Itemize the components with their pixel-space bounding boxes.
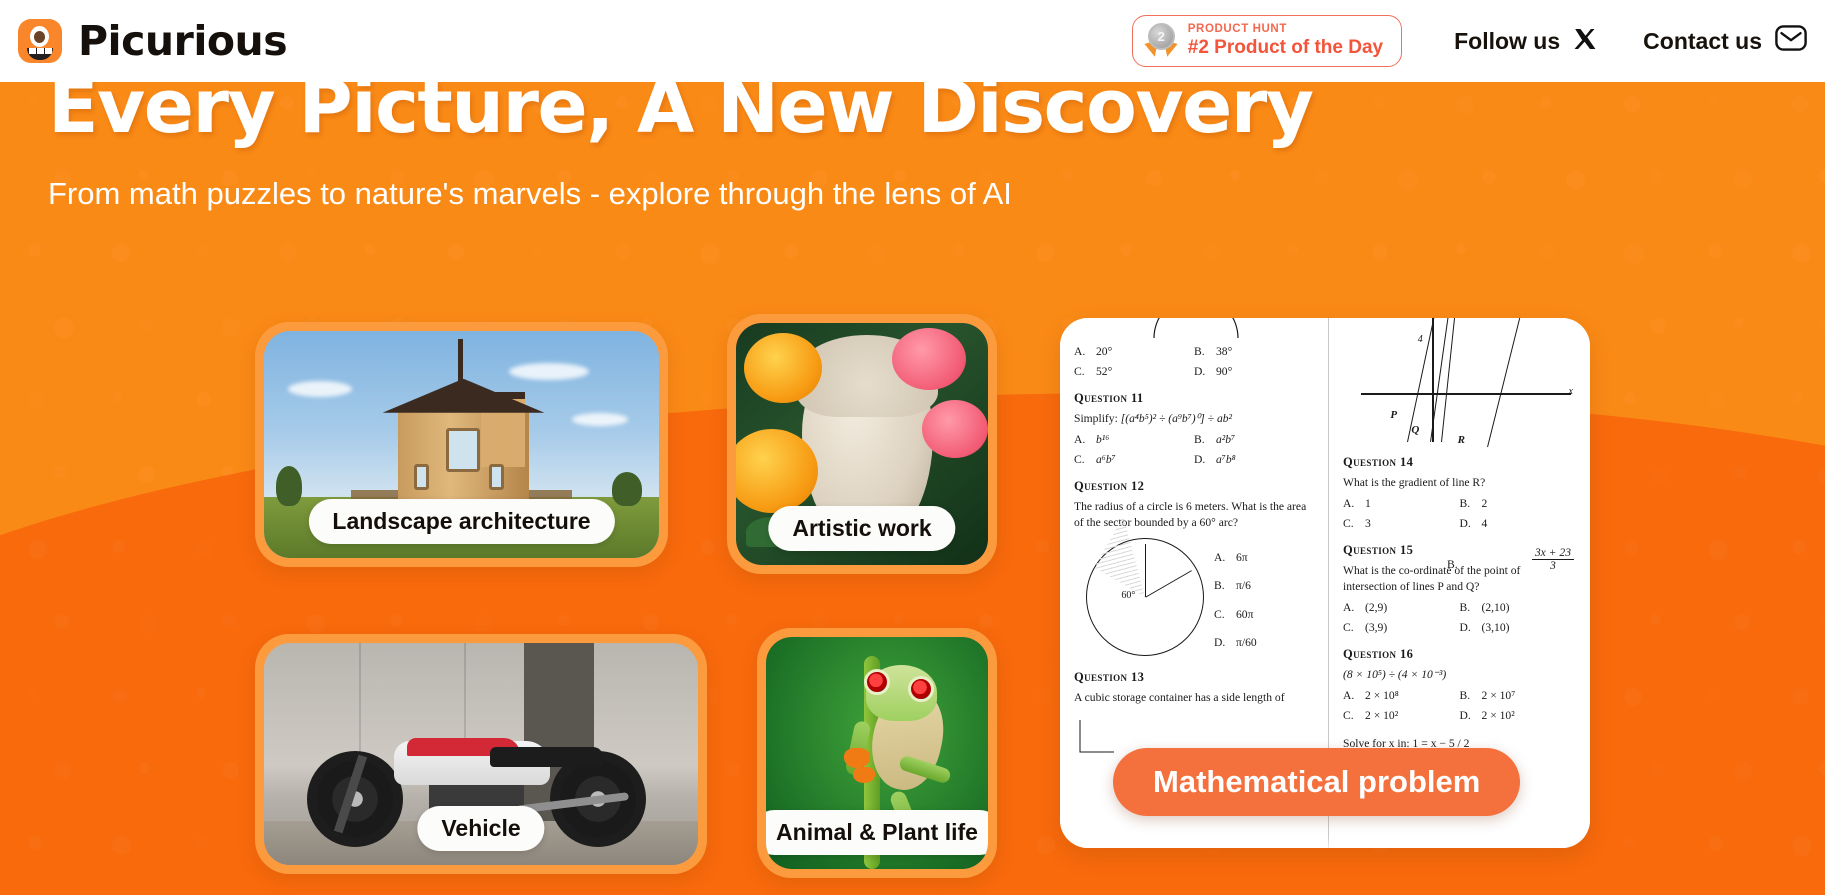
option-value: 2 × 10⁸ [1365, 689, 1399, 702]
question-13-heading: Question 13 [1074, 670, 1314, 685]
graph-label-P: P [1390, 409, 1397, 421]
question-14-heading: Question 14 [1343, 455, 1576, 470]
question-15-options: A.(2,9) B.(2,10) C.(3,9) D.(3,10) [1343, 601, 1576, 634]
option-letter: C. [1214, 601, 1227, 629]
card-label-math: Mathematical problem [1113, 748, 1520, 816]
option-value: (2,9) [1365, 601, 1387, 614]
option-value: (2,10) [1482, 601, 1510, 614]
follow-us-label: Follow us [1454, 28, 1560, 55]
follow-us-link[interactable]: Follow us [1454, 27, 1597, 55]
question-13-text: A cubic storage container has a side len… [1074, 690, 1314, 705]
question-12-options: A.6π B.π/6 C.60π D.π/60 [1214, 544, 1257, 658]
stray-option-letter: B. [1447, 558, 1458, 571]
question-14-text: What is the gradient of line R? [1343, 475, 1576, 490]
option-letter: D. [1460, 709, 1473, 722]
option-letter: C. [1343, 709, 1356, 722]
option-letter: A. [1214, 544, 1227, 572]
option-letter: D. [1460, 517, 1473, 530]
contact-us-link[interactable]: Contact us [1643, 25, 1807, 57]
category-card-artistic[interactable]: Artistic work [727, 314, 997, 574]
brand-logo-link[interactable]: Picurious [18, 17, 287, 65]
option-value: 20° [1096, 345, 1112, 358]
option-letter: D. [1194, 453, 1207, 466]
option-letter: B. [1194, 345, 1207, 358]
question-16-options: A.2 × 10⁸ B.2 × 10⁷ C.2 × 10² D.2 × 10² [1343, 689, 1576, 722]
option-value: π/60 [1236, 629, 1257, 657]
option-letter: B. [1460, 497, 1473, 510]
option-value: 2 × 10² [1482, 709, 1515, 722]
card-label-vehicle: Vehicle [417, 806, 544, 851]
product-hunt-title: #2 Product of the Day [1188, 37, 1383, 59]
sector-diagram: 60° [1086, 538, 1204, 656]
option-letter: A. [1343, 601, 1356, 614]
contact-us-label: Contact us [1643, 28, 1762, 55]
lines-graph-diagram: 4 P Q R x [1361, 318, 1571, 442]
option-letter: A. [1074, 345, 1087, 358]
option-value: 60π [1236, 601, 1253, 629]
product-hunt-badge[interactable]: 2 PRODUCT HUNT #2 Product of the Day [1132, 15, 1402, 67]
sector-angle-label: 60° [1121, 590, 1135, 601]
option-value: π/6 [1236, 572, 1251, 600]
option-value: a²b⁷ [1216, 433, 1235, 446]
brand-name: Picurious [78, 17, 287, 65]
option-value: 4 [1482, 517, 1488, 530]
option-value: 6π [1236, 544, 1248, 572]
option-letter: C. [1074, 365, 1087, 378]
option-value: 90° [1216, 365, 1232, 378]
option-letter: C. [1074, 453, 1087, 466]
category-card-animal[interactable]: Animal & Plant life [757, 628, 997, 878]
option-value: a⁶b⁷ [1096, 453, 1116, 466]
option-letter: D. [1460, 621, 1473, 634]
x-twitter-icon[interactable] [1573, 27, 1597, 55]
option-value: 1 [1365, 497, 1371, 510]
option-letter: D. [1214, 629, 1227, 657]
option-letter: A. [1343, 497, 1356, 510]
question-11-text: Simplify: [1074, 412, 1118, 425]
option-letter: B. [1460, 689, 1473, 702]
stray-expression: 3x + 23 3 [1532, 547, 1574, 572]
option-value: 2 [1482, 497, 1488, 510]
option-letter: B. [1194, 433, 1207, 446]
option-value: 38° [1216, 345, 1232, 358]
option-letter: B. [1460, 601, 1473, 614]
option-letter: B. [1214, 572, 1227, 600]
silver-medal-icon: 2 [1145, 23, 1178, 59]
card-label-landscape: Landscape architecture [308, 499, 614, 544]
question-11-expression: [(a⁴b⁵)² ÷ (a⁹b⁷)⁰] ÷ ab² [1121, 412, 1232, 425]
question-12-heading: Question 12 [1074, 479, 1314, 494]
graph-label-Q: Q [1411, 424, 1419, 436]
question-16-expression: (8 × 10⁵) ÷ (4 × 10⁻³) [1343, 667, 1576, 682]
question-16-heading: Question 16 [1343, 647, 1576, 662]
option-value: 3 [1365, 517, 1371, 530]
question-11-heading: Question 11 [1074, 391, 1314, 406]
option-value: (3,10) [1482, 621, 1510, 634]
landing-page: Picurious 2 PRODUCT HUNT #2 Product of t… [0, 0, 1825, 895]
category-card-landscape[interactable]: Landscape architecture [255, 322, 668, 567]
option-value: b¹⁶ [1096, 433, 1109, 446]
medal-rank: 2 [1148, 23, 1175, 50]
card-label-artistic: Artistic work [768, 506, 955, 551]
worksheet-top-options: A.20° B.38° C.52° D.90° [1074, 345, 1314, 378]
product-hunt-kicker: PRODUCT HUNT [1188, 23, 1383, 36]
question-12-text: The radius of a circle is 6 meters. What… [1074, 499, 1314, 530]
option-letter: C. [1343, 621, 1356, 634]
option-value: 52° [1096, 365, 1112, 378]
monster-logo-icon [18, 19, 62, 63]
graph-axis-x-label: x [1569, 386, 1573, 397]
graph-label-R: R [1458, 434, 1465, 446]
option-letter: A. [1074, 433, 1087, 446]
category-card-vehicle[interactable]: Vehicle [255, 634, 707, 874]
option-letter: D. [1194, 365, 1207, 378]
stray-expression-denominator: 3 [1550, 560, 1556, 572]
question-11-options: A.b¹⁶ B.a²b⁷ C.a⁶b⁷ D.a⁷b⁸ [1074, 433, 1314, 466]
option-value: (3,9) [1365, 621, 1387, 634]
option-letter: A. [1343, 689, 1356, 702]
card-label-animal: Animal & Plant life [766, 810, 988, 855]
option-value: a⁷b⁸ [1216, 453, 1236, 466]
option-letter: C. [1343, 517, 1356, 530]
envelope-icon[interactable] [1775, 25, 1807, 57]
site-header: Picurious 2 PRODUCT HUNT #2 Product of t… [0, 0, 1825, 82]
graph-label-4: 4 [1418, 334, 1423, 345]
question-14-options: A.1 B.2 C.3 D.4 [1343, 497, 1576, 530]
option-value: 2 × 10² [1365, 709, 1398, 722]
header-actions: 2 PRODUCT HUNT #2 Product of the Day Fol… [1132, 15, 1825, 67]
option-value: 2 × 10⁷ [1482, 689, 1516, 702]
